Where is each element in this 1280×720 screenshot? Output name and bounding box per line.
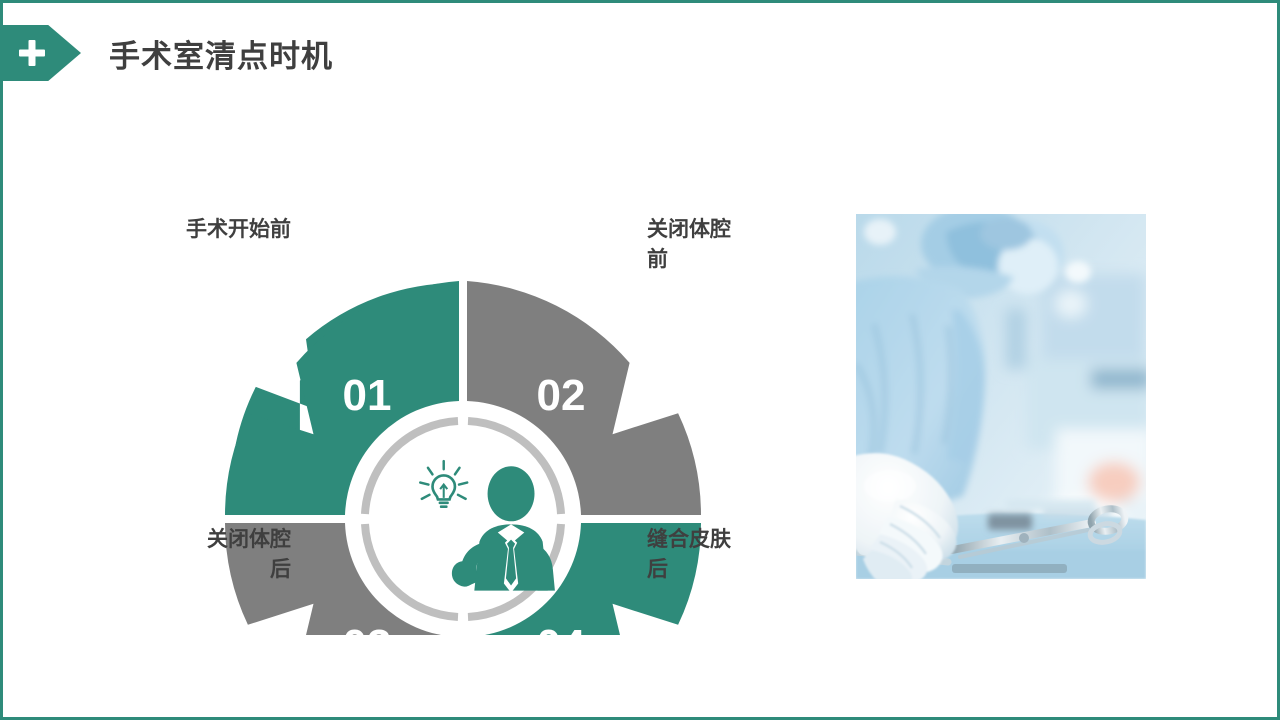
- wheel-number-04: 04: [537, 621, 586, 635]
- page-title: 手术室清点时机: [109, 31, 333, 76]
- wheel-label-01: 手术开始前: [121, 215, 291, 245]
- wheel-number-02: 02: [537, 371, 586, 420]
- plus-icon: [19, 40, 45, 66]
- person-with-lightbulb-idea-icon: [420, 461, 555, 593]
- operating-room-surgeon-photo: [856, 214, 1146, 579]
- wheel-label-03: 关闭体腔 后: [121, 525, 291, 586]
- wheel-label-04: 缝合皮肤 后: [647, 525, 817, 586]
- wheel-label-02: 关闭体腔 前: [647, 215, 817, 276]
- cycle-diagram: 01 02 03 04: [99, 155, 827, 635]
- title-badge: [3, 25, 81, 81]
- wheel-number-01: 01: [343, 371, 392, 420]
- wheel-number-03: 03: [343, 621, 392, 635]
- operating-room-surgeon-photo-art: [856, 214, 1146, 579]
- slide-root: 手术室清点时机 01 02 03 04: [0, 0, 1280, 720]
- slide-title-bar: 手术室清点时机: [3, 25, 333, 81]
